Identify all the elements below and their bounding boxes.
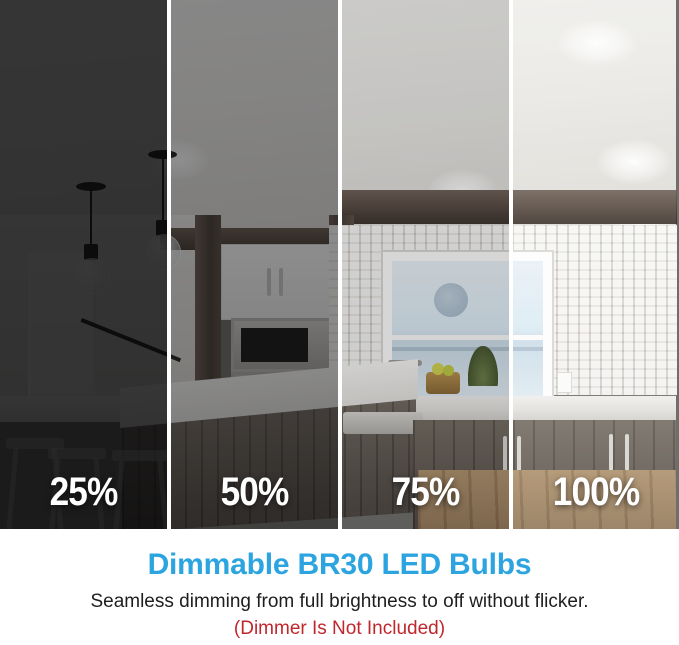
kitchen-scene-image xyxy=(513,0,676,529)
product-infographic: 25% xyxy=(0,0,679,645)
recessed-light-glow-icon xyxy=(597,140,671,184)
product-headline: Dimmable BR30 LED Bulbs xyxy=(0,529,679,582)
panel-label-25: 25% xyxy=(10,470,157,515)
dimming-panel-100: 100% xyxy=(513,0,679,529)
caption-block: Dimmable BR30 LED Bulbs Seamless dimming… xyxy=(0,529,679,645)
pendant-cord xyxy=(162,158,164,222)
panel-label-50: 50% xyxy=(181,470,328,515)
dimming-panel-50: 50% xyxy=(171,0,338,529)
dimming-comparison-strip: 25% xyxy=(0,0,679,529)
dimming-panel-75: 75% xyxy=(342,0,509,529)
kitchen-scene-image xyxy=(0,0,167,529)
product-subline: Seamless dimming from full brightness to… xyxy=(0,582,679,613)
panel-label-75: 75% xyxy=(352,470,499,515)
panel-label-100: 100% xyxy=(523,470,669,515)
recessed-light-glow-icon xyxy=(557,20,637,66)
dimming-panel-25: 25% xyxy=(0,0,167,529)
pendant-cord xyxy=(90,190,92,246)
kitchen-scene-image xyxy=(342,0,509,529)
kitchen-scene-image xyxy=(171,0,338,529)
product-disclaimer: (Dimmer Is Not Included) xyxy=(0,613,679,640)
pendant-globe-icon xyxy=(74,258,110,294)
